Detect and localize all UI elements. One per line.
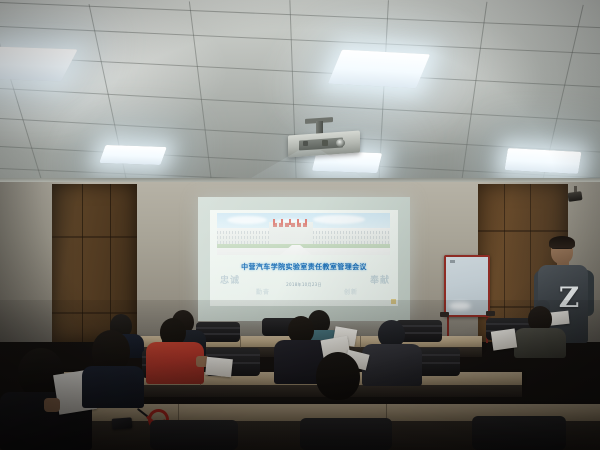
wall-shadow-left <box>0 182 86 342</box>
paper-sheet-far-right <box>491 328 517 350</box>
chair-front-3 <box>472 416 566 450</box>
whiteboard-tray-right <box>486 311 495 316</box>
paper-sheet-red-jacket <box>205 357 233 378</box>
whiteboard-flipchart <box>444 255 490 317</box>
slide-keyword-diligence: 勤奋 <box>256 287 270 296</box>
meeting-room-photo: 中营汽车学院实验室责任教室管理会议 忠诚 奉献 勤奋 创新 2018年10月23… <box>0 0 600 450</box>
slide-keyword-innovation: 创新 <box>344 287 358 296</box>
projector-lens <box>336 139 345 147</box>
slide-date: 2018年10月23日 <box>210 282 398 288</box>
whiteboard-erase-smudge <box>449 302 471 310</box>
presentation-slide: 中营汽车学院实验室责任教室管理会议 忠诚 奉献 勤奋 创新 2018年10月23… <box>210 210 398 306</box>
presenter-glasses <box>552 248 572 253</box>
chair-front-2 <box>300 418 392 450</box>
projection-screen: 中营汽车学院实验室责任教室管理会议 忠诚 奉献 勤奋 创新 2018年10月23… <box>198 197 410 321</box>
projector-vent <box>303 141 308 146</box>
light-panel-top-right <box>328 50 430 89</box>
hand-front-left <box>44 398 60 412</box>
whiteboard-tray-left <box>440 312 449 317</box>
light-panel-mid-right <box>505 148 582 174</box>
photo-overexposure <box>217 213 390 255</box>
slide-building-photo <box>217 213 390 255</box>
ceiling <box>0 0 600 188</box>
whiteboard-clip <box>450 260 455 263</box>
projector-control <box>322 140 328 146</box>
slide-title: 中营汽车学院实验室责任教室管理会议 <box>210 262 398 272</box>
chair-front-1 <box>150 420 238 450</box>
smartphone-on-desk[interactable] <box>112 417 133 429</box>
wall-mounted-camera-icon <box>567 191 582 202</box>
light-panel-mid-left <box>99 145 167 165</box>
whiteboard-surface <box>446 257 488 315</box>
slide-corner-mark <box>391 299 396 304</box>
presenter-shirt-logo: Z <box>556 281 582 315</box>
